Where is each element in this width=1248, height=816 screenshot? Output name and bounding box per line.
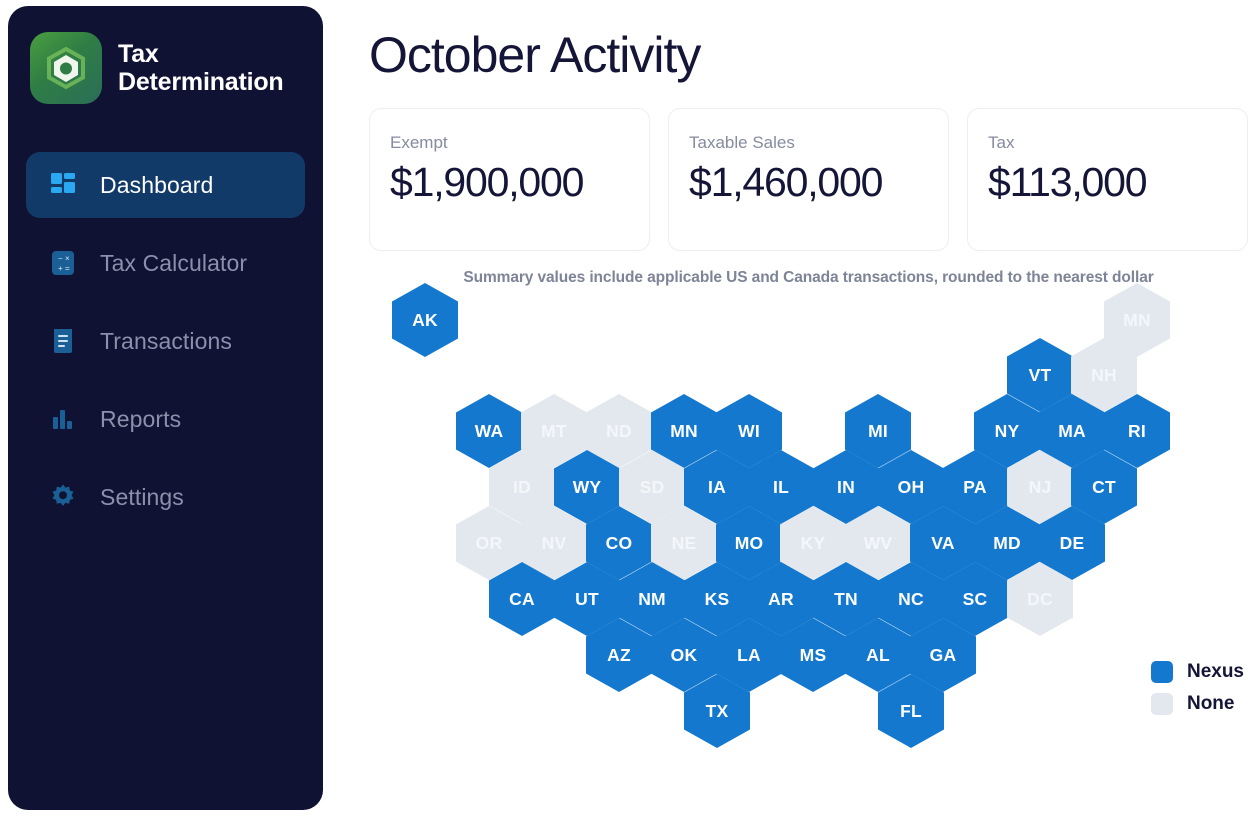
summary-card-taxable-sales: Taxable Sales $1,460,000: [668, 108, 949, 251]
legend-item-nexus: Nexus: [1151, 661, 1244, 683]
sidebar-item-label: Dashboard: [100, 172, 213, 199]
hexagon-logo-icon: [30, 32, 102, 104]
brand-name: Tax Determination: [118, 40, 283, 97]
receipt-icon: [48, 326, 78, 356]
card-value: $1,900,000: [390, 159, 629, 206]
legend-swatch-none: [1151, 693, 1173, 715]
legend-swatch-nexus: [1151, 661, 1173, 683]
gear-icon: [48, 482, 78, 512]
legend-label: Nexus: [1187, 661, 1244, 683]
sidebar-item-label: Transactions: [100, 328, 232, 355]
app-root: Tax Determination Dashboard: [0, 0, 1248, 816]
card-value: $1,460,000: [689, 159, 928, 206]
summary-card-tax: Tax $113,000: [967, 108, 1248, 251]
sidebar-item-tax-calculator[interactable]: − × + = Tax Calculator: [26, 230, 305, 296]
card-label: Exempt: [390, 133, 629, 153]
sidebar-nav: Dashboard − × + = Tax Calculator: [8, 152, 323, 530]
legend-label: None: [1187, 693, 1235, 715]
nexus-hex-map: AKMNVTNHWAMTNDMNWIMINYMARIIDWYSDIAILINOH…: [369, 293, 1248, 783]
sidebar-item-transactions[interactable]: Transactions: [26, 308, 305, 374]
legend-item-none: None: [1151, 693, 1244, 715]
summary-card-exempt: Exempt $1,900,000: [369, 108, 650, 251]
brand-name-line2: Determination: [118, 68, 283, 96]
calculator-icon: − × + =: [48, 248, 78, 278]
sidebar-item-reports[interactable]: Reports: [26, 386, 305, 452]
svg-text:−: −: [58, 254, 63, 263]
sidebar-item-label: Settings: [100, 484, 184, 511]
svg-text:+: +: [58, 264, 63, 273]
main-content: October Activity Exempt $1,900,000 Taxab…: [369, 0, 1248, 816]
card-label: Taxable Sales: [689, 133, 928, 153]
sidebar: Tax Determination Dashboard: [8, 6, 323, 810]
dashboard-grid-icon: [48, 170, 78, 200]
brand: Tax Determination: [8, 32, 323, 104]
hex-state-ak[interactable]: AK: [392, 283, 458, 357]
page-title: October Activity: [369, 26, 1248, 84]
summary-note: Summary values include applicable US and…: [369, 269, 1248, 287]
brand-name-line1: Tax: [118, 40, 159, 68]
bar-chart-icon: [48, 404, 78, 434]
svg-text:×: ×: [65, 254, 70, 263]
sidebar-item-dashboard[interactable]: Dashboard: [26, 152, 305, 218]
card-label: Tax: [988, 133, 1227, 153]
summary-cards: Exempt $1,900,000 Taxable Sales $1,460,0…: [369, 108, 1248, 251]
sidebar-item-settings[interactable]: Settings: [26, 464, 305, 530]
sidebar-item-label: Reports: [100, 406, 181, 433]
sidebar-item-label: Tax Calculator: [100, 250, 247, 277]
svg-text:=: =: [65, 264, 70, 273]
map-legend: Nexus None: [1151, 661, 1244, 725]
card-value: $113,000: [988, 159, 1227, 206]
